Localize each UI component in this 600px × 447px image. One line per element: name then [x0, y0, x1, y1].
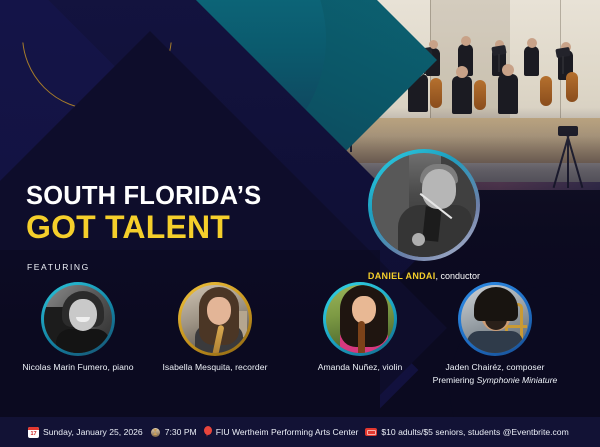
- performer-portrait: [461, 285, 529, 353]
- conductor-hand: [412, 233, 425, 246]
- ticket-icon: [365, 428, 377, 436]
- event-tickets-text[interactable]: $10 adults/$5 seniors, students @Eventbr…: [381, 427, 568, 437]
- calendar-icon: 17: [28, 427, 39, 438]
- performer-photo-ring: [178, 282, 252, 356]
- ticket-icon-inner: [367, 430, 376, 435]
- performer-list: Nicolas Marin Fumero, piano Isabella Mes…: [0, 282, 600, 402]
- event-tickets[interactable]: $10 adults/$5 seniors, students @Eventbr…: [365, 427, 568, 437]
- event-venue-text: FIU Wertheim Performing Arts Center: [216, 427, 359, 437]
- trombone-slide: [505, 325, 527, 328]
- performer-name: Isabella Mesquita, recorder: [140, 362, 290, 372]
- event-time-text: 7:30 PM: [165, 427, 197, 437]
- performer-item: Amanda Nuñez, violin: [285, 282, 435, 372]
- event-date: 17 Sunday, January 25, 2026: [28, 427, 143, 438]
- performer-photo-ring: [41, 282, 115, 356]
- performer-torso: [56, 329, 110, 353]
- performer-torso: [467, 331, 523, 353]
- work-title: Symphonie Miniature: [477, 375, 558, 385]
- concert-poster: SOUTH FLORIDA’S GOT TALENT FEATURING DAN…: [0, 0, 600, 447]
- performer-name: Amanda Nuñez, violin: [285, 362, 435, 372]
- calendar-icon-day: 17: [28, 430, 39, 438]
- location-pin-icon: [204, 426, 212, 438]
- performer-face: [352, 296, 376, 324]
- performer-name: Jaden Chairéz, composer: [420, 362, 570, 372]
- performer-item: Jaden Chairéz, composer Premiering Symph…: [420, 282, 570, 385]
- performer-face: [69, 299, 97, 331]
- conductor-photo-ring: [368, 149, 480, 261]
- event-info-bar: 17 Sunday, January 25, 2026 7:30 PM FIU …: [0, 417, 600, 447]
- performer-portrait: [181, 285, 249, 353]
- clock-icon: [150, 427, 161, 438]
- poster-title: SOUTH FLORIDA’S GOT TALENT: [26, 183, 261, 245]
- performer-photo-ring: [323, 282, 397, 356]
- event-time: 7:30 PM: [150, 427, 197, 438]
- event-date-text: Sunday, January 25, 2026: [43, 427, 143, 437]
- featuring-label: FEATURING: [27, 262, 90, 272]
- performer-portrait: [44, 285, 112, 353]
- conductor-block: DANIEL ANDAI, conductor: [368, 149, 494, 284]
- conductor-head: [422, 169, 456, 209]
- conductor-role: , conductor: [436, 271, 481, 281]
- violin-instrument: [358, 321, 365, 353]
- performer-name: Nicolas Marin Fumero, piano: [3, 362, 153, 372]
- performer-face: [207, 297, 231, 325]
- event-venue: FIU Wertheim Performing Arts Center: [204, 426, 359, 438]
- performer-photo-ring: [458, 282, 532, 356]
- title-line-2: GOT TALENT: [26, 211, 261, 245]
- performer-portrait: [326, 285, 394, 353]
- performer-item: Nicolas Marin Fumero, piano: [3, 282, 153, 372]
- title-line-1: SOUTH FLORIDA’S: [26, 183, 261, 210]
- pin-icon-tip: [206, 432, 208, 437]
- premiering-prefix: Premiering: [433, 375, 477, 385]
- performer-item: Isabella Mesquita, recorder: [140, 282, 290, 372]
- conductor-portrait: [372, 153, 476, 257]
- performer-subline: Premiering Symphonie Miniature: [420, 375, 570, 385]
- conductor-name: DANIEL ANDAI: [368, 271, 436, 281]
